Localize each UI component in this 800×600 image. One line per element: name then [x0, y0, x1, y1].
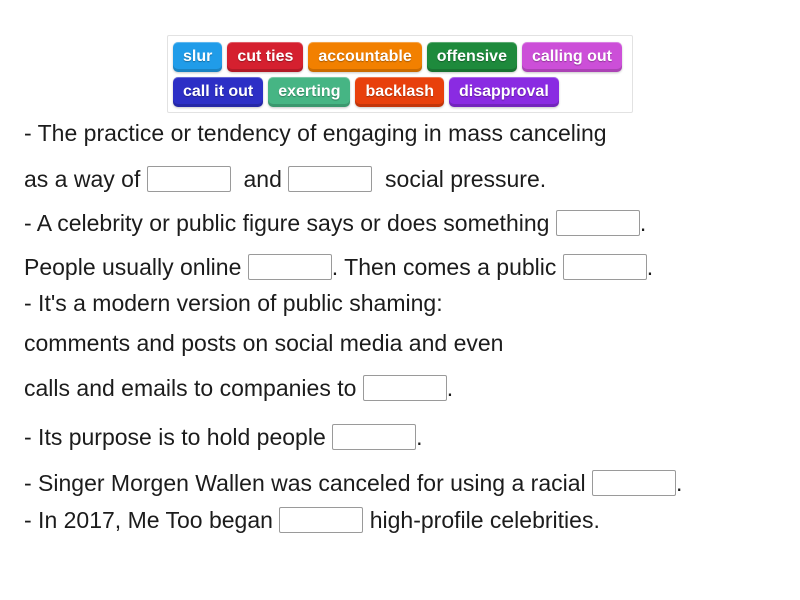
answer-blank[interactable]	[279, 507, 363, 533]
sentence-text: .	[416, 426, 422, 449]
sentence-text: - It's a modern version of public shamin…	[24, 292, 443, 315]
answer-blank[interactable]	[147, 166, 231, 192]
word-tile[interactable]: slur	[173, 42, 222, 72]
sentence-text: - A celebrity or public figure says or d…	[24, 212, 556, 235]
sentence-line: comments and posts on social media and e…	[24, 332, 503, 355]
sentence-text: - Its purpose is to hold people	[24, 426, 332, 449]
sentence-text: . Then comes a public	[332, 256, 563, 279]
sentence-line: - The practice or tendency of engaging i…	[24, 122, 607, 145]
word-tile[interactable]: disapproval	[449, 77, 559, 107]
word-tile[interactable]: offensive	[427, 42, 517, 72]
word-tile-row: slurcut tiesaccountableoffensivecalling …	[173, 42, 627, 72]
sentence-line: as a way of and social pressure.	[24, 166, 546, 192]
sentence-line: People usually online . Then comes a pub…	[24, 254, 653, 280]
answer-blank[interactable]	[556, 210, 640, 236]
word-tile[interactable]: accountable	[308, 42, 421, 72]
word-tile-row: call it outexertingbacklashdisapproval	[173, 77, 627, 107]
word-tile[interactable]: backlash	[355, 77, 443, 107]
sentence-text: - The practice or tendency of engaging i…	[24, 122, 607, 145]
sentence-line: calls and emails to companies to .	[24, 375, 453, 401]
sentence-text: calls and emails to companies to	[24, 377, 363, 400]
answer-blank[interactable]	[248, 254, 332, 280]
word-tile[interactable]: calling out	[522, 42, 622, 72]
answer-blank[interactable]	[363, 375, 447, 401]
sentence-text: .	[640, 212, 646, 235]
word-bank-panel: slurcut tiesaccountableoffensivecalling …	[167, 35, 633, 113]
sentence-line: - It's a modern version of public shamin…	[24, 292, 443, 315]
sentence-line: - Singer Morgen Wallen was canceled for …	[24, 470, 682, 496]
answer-blank[interactable]	[592, 470, 676, 496]
sentence-text: .	[647, 256, 653, 279]
sentence-line: - A celebrity or public figure says or d…	[24, 210, 646, 236]
sentence-text: - In 2017, Me Too began	[24, 509, 279, 532]
sentence-text: - Singer Morgen Wallen was canceled for …	[24, 472, 592, 495]
sentence-line: - In 2017, Me Too began high-profile cel…	[24, 507, 600, 533]
answer-blank[interactable]	[563, 254, 647, 280]
sentence-text: comments and posts on social media and e…	[24, 332, 503, 355]
sentence-text: as a way of	[24, 168, 147, 191]
sentence-text: .	[447, 377, 453, 400]
word-tile[interactable]: exerting	[268, 77, 350, 107]
sentence-text: social pressure.	[372, 168, 546, 191]
answer-blank[interactable]	[288, 166, 372, 192]
sentence-text: and	[231, 168, 289, 191]
sentence-text: high-profile celebrities.	[363, 509, 600, 532]
word-tile[interactable]: call it out	[173, 77, 263, 107]
answer-blank[interactable]	[332, 424, 416, 450]
word-tile[interactable]: cut ties	[227, 42, 303, 72]
sentence-line: - Its purpose is to hold people .	[24, 424, 423, 450]
sentence-text: .	[676, 472, 682, 495]
sentence-text: People usually online	[24, 256, 248, 279]
